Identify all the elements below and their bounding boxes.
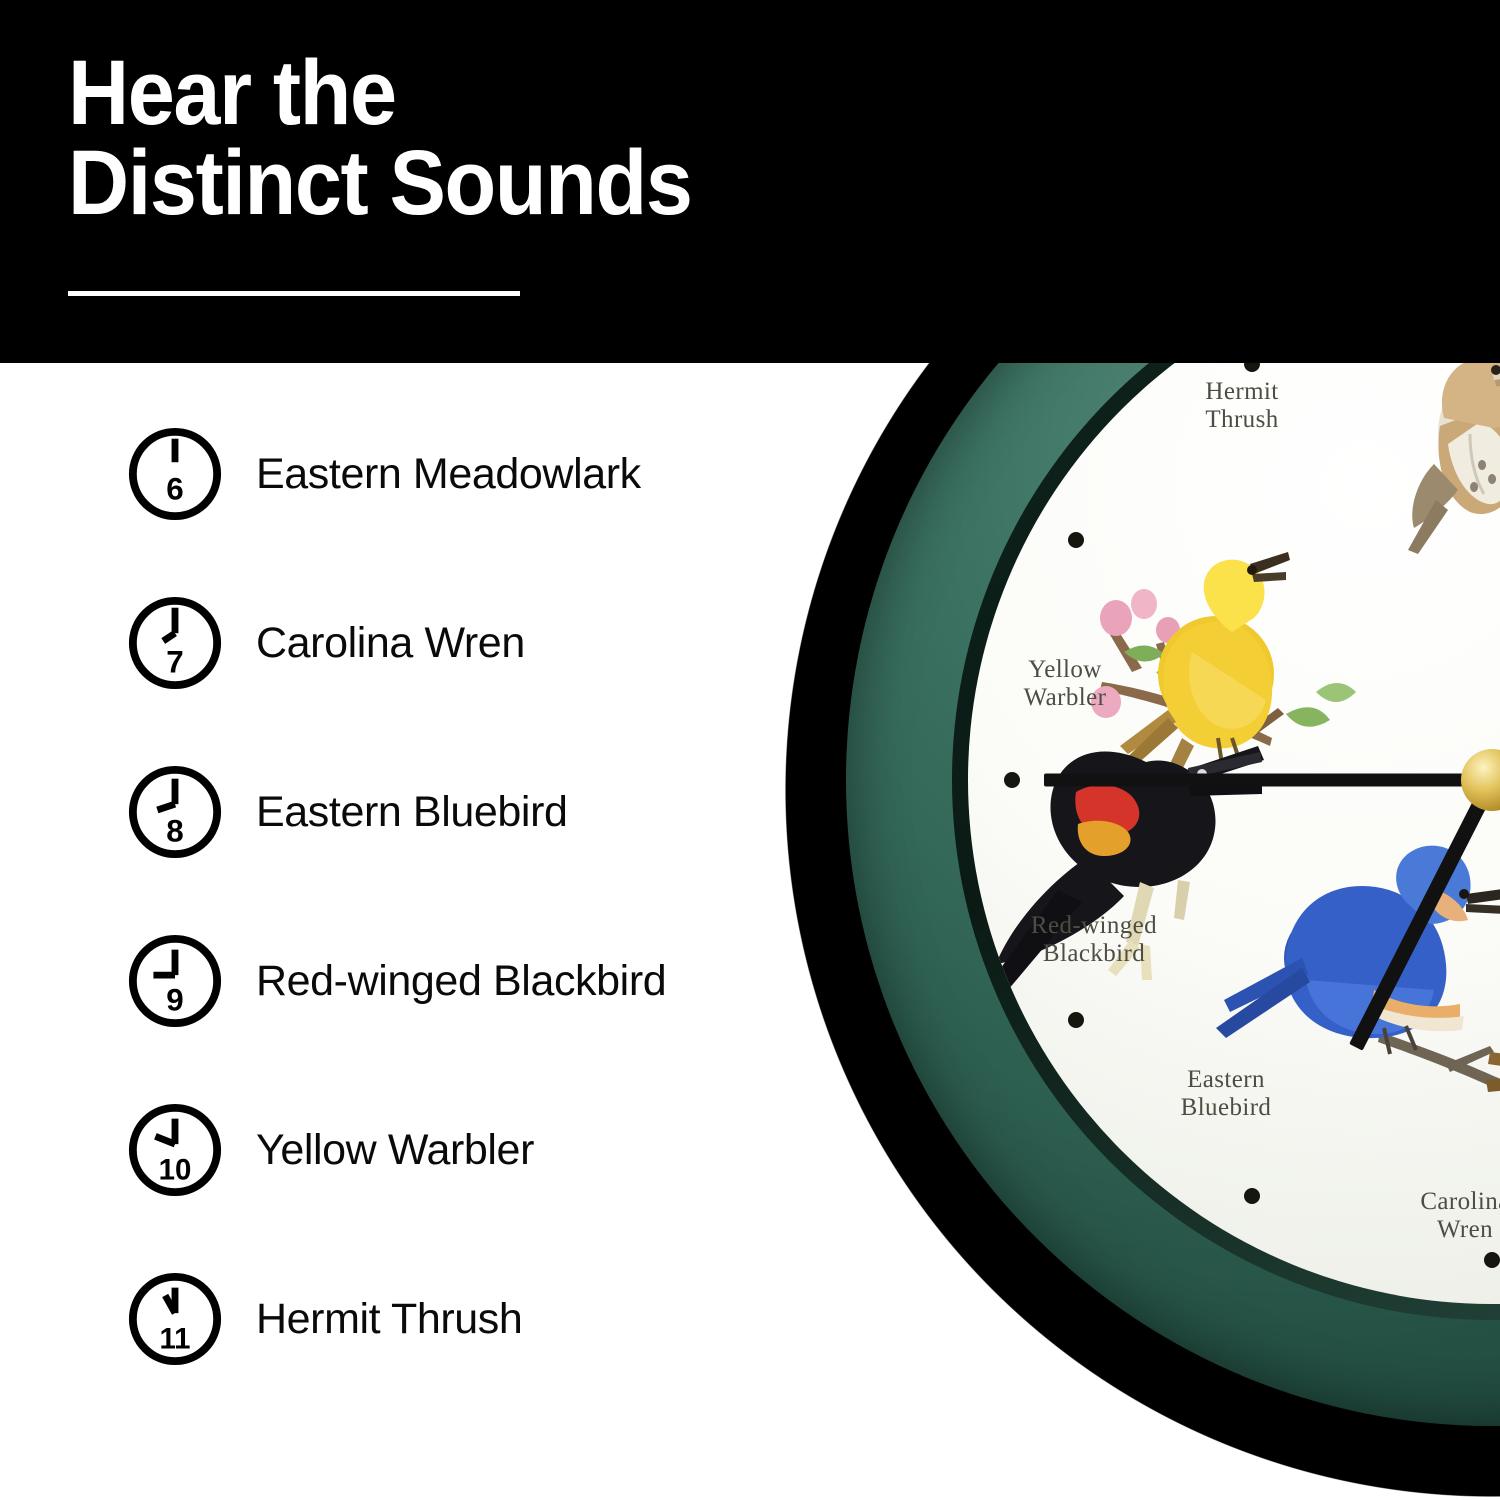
list-item-label: Carolina Wren xyxy=(256,619,525,668)
clock-6-icon: 6 xyxy=(126,425,224,523)
clock-hour-number: 7 xyxy=(166,644,183,679)
clock-hour-number: 9 xyxy=(166,982,183,1017)
list-item: 10 Yellow Warbler xyxy=(126,1100,766,1200)
list-item-label: Eastern Bluebird xyxy=(256,788,568,837)
page-title: Hear the Distinct Sounds xyxy=(68,48,933,228)
header-banner: Hear the Distinct Sounds xyxy=(0,0,1500,363)
list-item: 9 Red-winged Blackbird xyxy=(126,931,766,1031)
clock-hour-number: 6 xyxy=(166,471,183,506)
list-item-label: Hermit Thrush xyxy=(256,1295,522,1344)
list-item-label: Red-winged Blackbird xyxy=(256,957,666,1006)
clock-11-icon: 11 xyxy=(126,1270,224,1368)
list-item: 11 Hermit Thrush xyxy=(126,1269,766,1369)
clock-hour-number: 10 xyxy=(159,1153,192,1186)
list-item-label: Yellow Warbler xyxy=(256,1126,534,1175)
clock-8-icon: 8 xyxy=(126,763,224,861)
clock-hour-number: 11 xyxy=(159,1322,190,1355)
list-item: 8 Eastern Bluebird xyxy=(126,762,766,862)
clock-7-icon: 7 xyxy=(126,594,224,692)
list-item: 6 Eastern Meadowlark xyxy=(126,424,766,524)
header-divider xyxy=(68,291,520,296)
list-item: 7 Carolina Wren xyxy=(126,593,766,693)
promo-image: Hermit Thrush Su Ta Yellow Warbler Red-w… xyxy=(0,0,1500,1500)
clock-10-icon: 10 xyxy=(126,1101,224,1199)
clock-9-icon: 9 xyxy=(126,932,224,1030)
bird-sound-list: 6 Eastern Meadowlark 7 Carolina Wren xyxy=(126,424,766,1369)
list-item-label: Eastern Meadowlark xyxy=(256,450,641,499)
clock-hour-number: 8 xyxy=(166,813,183,848)
